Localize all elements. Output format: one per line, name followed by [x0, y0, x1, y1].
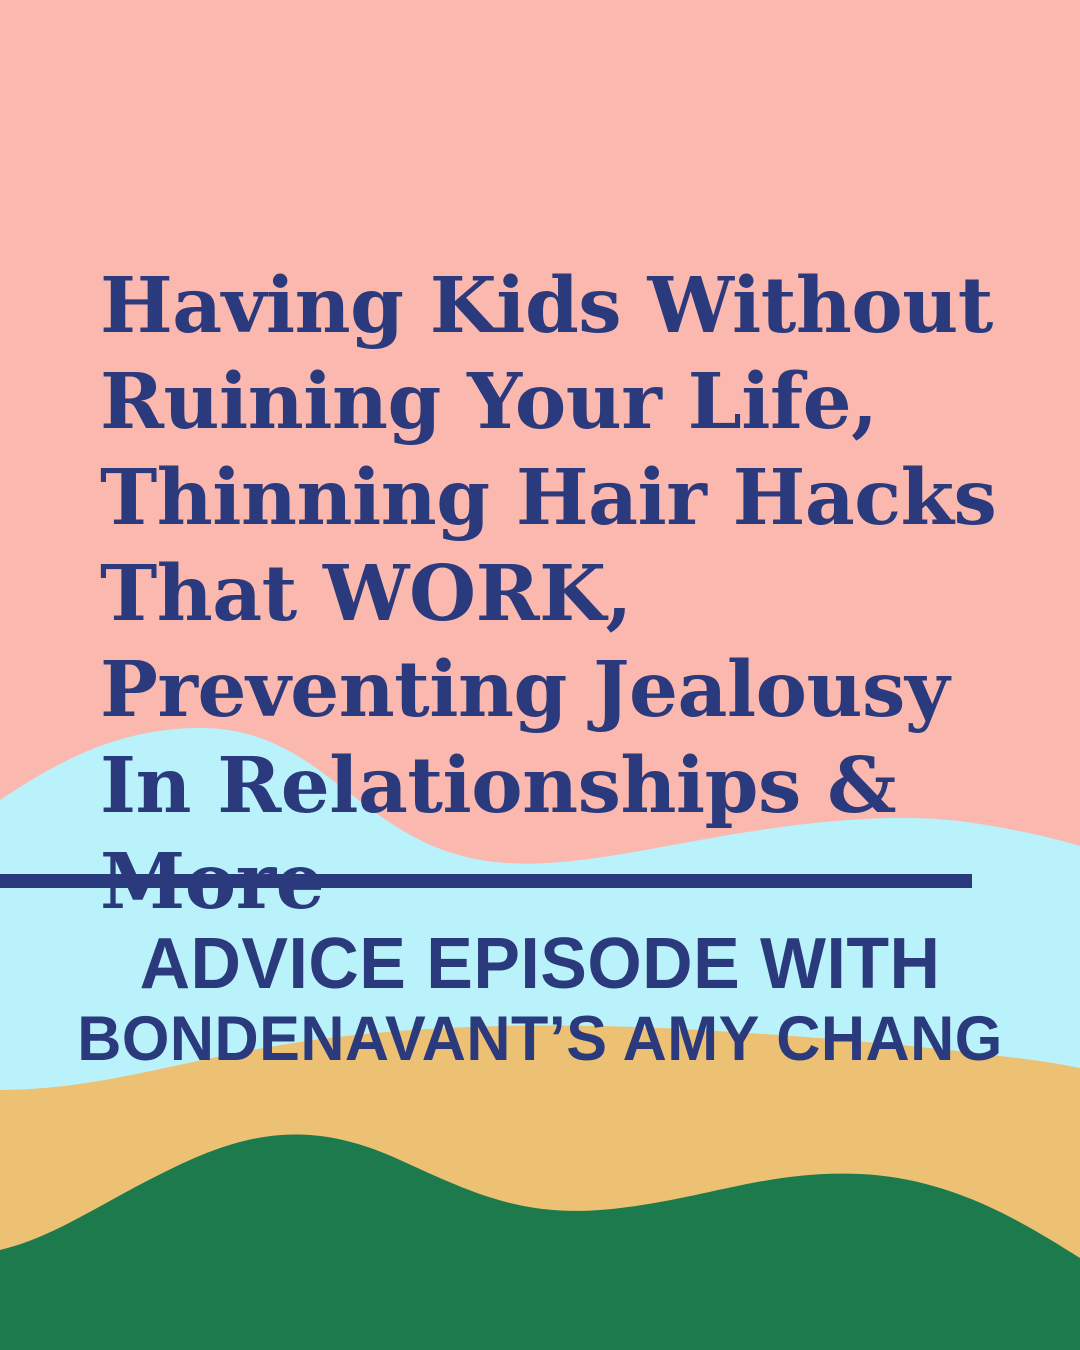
poster-content: Having Kids Without Ruining Your Life, T…	[0, 0, 1080, 1350]
subtitle-line-two: BONDENAVANT’S AMY CHANG	[16, 1003, 1064, 1075]
podcast-episode-poster: Having Kids Without Ruining Your Life, T…	[0, 0, 1080, 1350]
divider	[0, 874, 972, 888]
page-title: Having Kids Without Ruining Your Life, T…	[100, 258, 1020, 930]
subtitle-line-one: ADVICE EPISODE WITH	[16, 925, 1064, 1003]
subtitle-block: ADVICE EPISODE WITH BONDENAVANT’S AMY CH…	[0, 925, 1080, 1075]
